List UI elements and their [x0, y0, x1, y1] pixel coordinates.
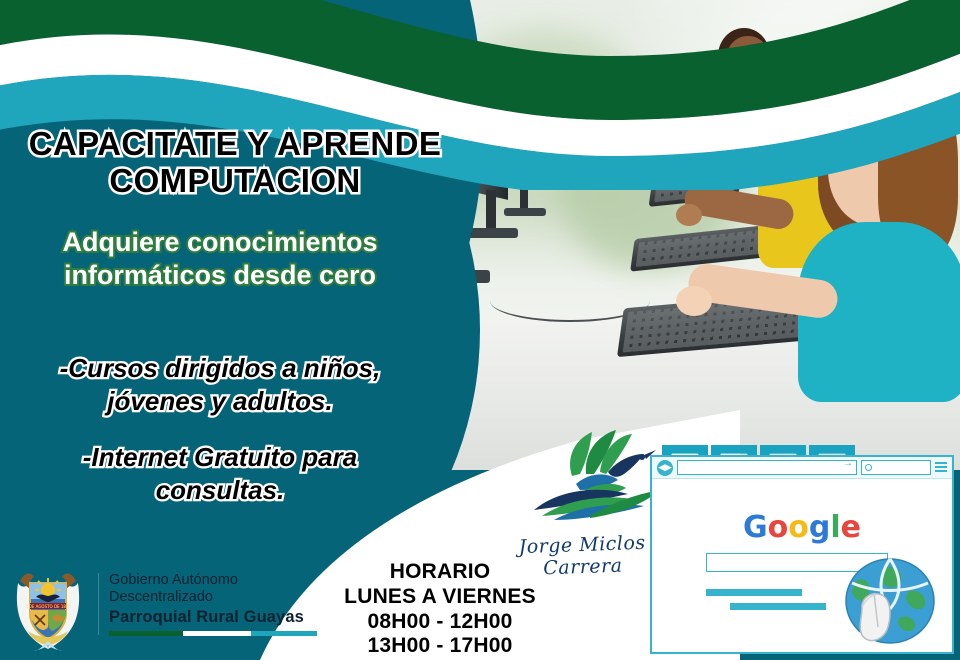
google-letter-o1: o: [768, 513, 789, 543]
google-letter-e: e: [841, 513, 861, 543]
subhead-line-2: informáticos desde cero: [64, 260, 376, 290]
photo-monitor-stand: [486, 190, 496, 232]
gad-color-bar: [109, 631, 317, 636]
headline-line-2: COMPUTACION: [0, 163, 470, 200]
result-placeholder-line: [730, 603, 826, 610]
bullet-2-line-2: consultas.: [156, 475, 285, 505]
bullet-1-line-1: -Cursos dirigidos a niños,: [60, 353, 381, 383]
gad-logo-block: 7 DE AGOSTO DE 1840 Gobierno Autónomo De…: [8, 556, 318, 652]
google-letter-l: l: [830, 513, 840, 543]
result-placeholder-line: [706, 589, 802, 596]
hamburger-menu-icon[interactable]: [935, 462, 947, 473]
search-input[interactable]: [861, 460, 931, 475]
flying-bird-logo-icon: [520, 428, 670, 533]
bullet-2-line-1: -Internet Gratuito para: [83, 442, 357, 472]
gad-line-3: Parroquial Rural Guayas: [109, 607, 317, 627]
schedule-title: HORARIO: [390, 560, 491, 583]
browser-toolbar: ◀▶: [652, 457, 952, 479]
signature-text: Jorge Miclos Carrera: [489, 531, 675, 581]
headline-line-1: CAPACITATE Y APRENDE: [29, 125, 442, 162]
schedule-morning: 08H00 - 12H00: [367, 610, 512, 633]
globe-with-mouse-icon: [838, 555, 938, 647]
browser-mockup: ◀▶ Google: [650, 445, 950, 650]
svg-text:7 DE AGOSTO DE 1840: 7 DE AGOSTO DE 1840: [25, 604, 72, 609]
gad-line-2: Descentralizado: [109, 589, 317, 607]
gad-bar-white: [183, 631, 251, 636]
page-title: CAPACITATE Y APRENDE COMPUTACION: [0, 126, 470, 200]
gad-text-block: Gobierno Autónomo Descentralizado Parroq…: [109, 572, 317, 637]
google-letter-o2: o: [788, 513, 809, 543]
back-arrow-icon[interactable]: ◀▶: [657, 460, 673, 476]
gad-divider: [98, 573, 99, 635]
gad-bar-green: [109, 631, 183, 636]
poster-root: CAPACITATE Y APRENDE COMPUTACION Adquier…: [0, 0, 960, 660]
guayas-coat-of-arms-icon: 7 DE AGOSTO DE 1840: [8, 557, 88, 651]
photo-monitor-base: [504, 208, 546, 216]
schedule-days: LUNES A VIERNES: [344, 585, 536, 608]
google-logo: Google: [652, 513, 952, 543]
subheadline: Adquiere conocimientos informáticos desd…: [0, 226, 440, 292]
google-letter-G: G: [743, 513, 768, 543]
gad-bar-cyan: [251, 631, 317, 636]
gad-line-1: Gobierno Autónomo: [109, 572, 317, 590]
url-input[interactable]: [677, 460, 857, 475]
bullet-1-line-2: jóvenes y adultos.: [107, 386, 332, 416]
bullet-spacer: [10, 419, 430, 441]
subhead-line-1: Adquiere conocimientos: [62, 227, 377, 257]
schedule-afternoon: 13H00 - 17H00: [367, 634, 512, 657]
bullet-list: -Cursos dirigidos a niños, jóvenes y adu…: [10, 352, 430, 507]
google-letter-g: g: [809, 513, 830, 543]
